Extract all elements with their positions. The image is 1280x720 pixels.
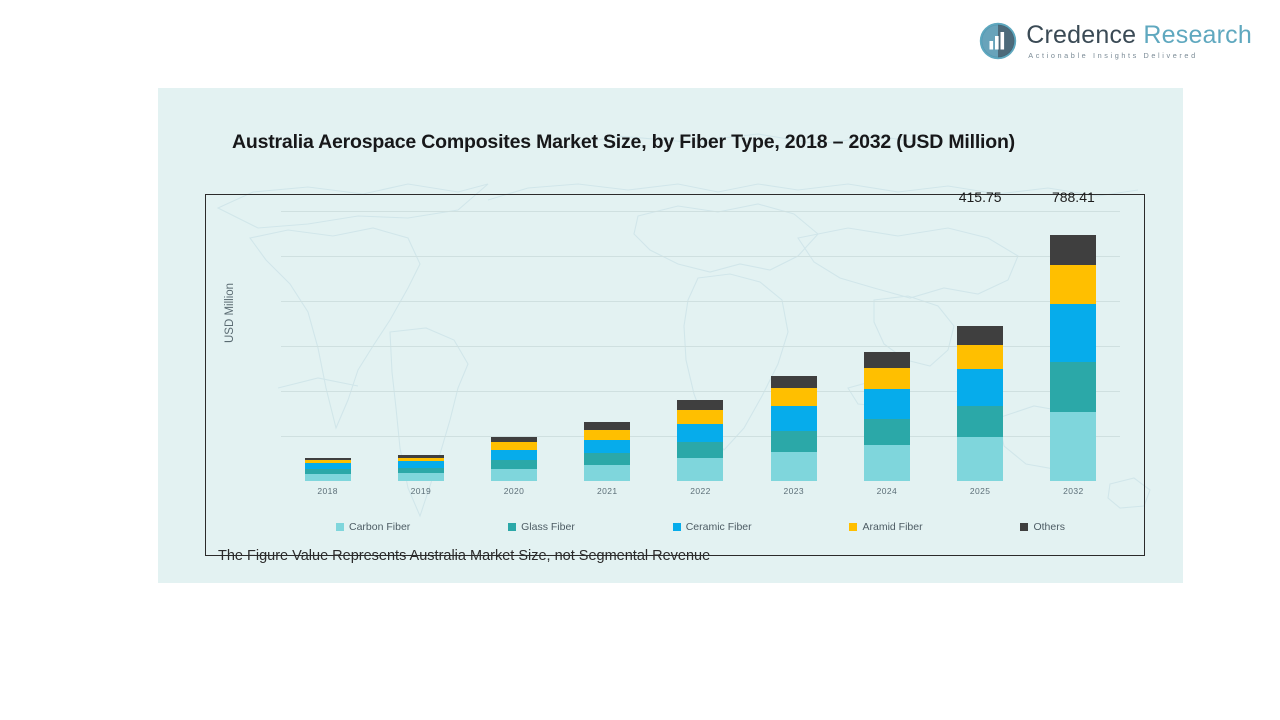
legend-item-carbon-fiber[interactable]: Carbon Fiber [336, 521, 410, 533]
bar-segment-aramid-fiber[interactable] [491, 442, 537, 450]
bar-segment-carbon-fiber[interactable] [398, 473, 444, 481]
bar-segment-others[interactable] [1050, 235, 1096, 266]
stacked-bar[interactable] [864, 352, 910, 481]
bar-segment-carbon-fiber[interactable] [305, 474, 351, 481]
chart-legend: Carbon FiberGlass FiberCeramic FiberAram… [281, 519, 1120, 535]
bar-slot: 788.41 [1031, 211, 1117, 481]
bar-segment-carbon-fiber[interactable] [491, 469, 537, 481]
bar-slot [471, 211, 557, 481]
x-axis-tick-2018: 2018 [285, 486, 371, 496]
legend-item-others[interactable]: Others [1020, 521, 1065, 533]
stacked-bar[interactable] [398, 455, 444, 481]
x-axis-tick-2024: 2024 [844, 486, 930, 496]
x-axis-tick-2025: 2025 [937, 486, 1023, 496]
legend-item-aramid-fiber[interactable]: Aramid Fiber [849, 521, 922, 533]
stacked-bar[interactable] [584, 422, 630, 481]
bar-segment-others[interactable] [957, 326, 1003, 345]
bar-segment-aramid-fiber[interactable] [584, 430, 630, 440]
stacked-bar[interactable] [305, 458, 351, 481]
stacked-bar[interactable] [491, 437, 537, 481]
chart-footnote: The Figure Value Represents Australia Ma… [218, 548, 710, 564]
chart-panel: Australia Aerospace Composites Market Si… [158, 88, 1183, 583]
legend-label: Aramid Fiber [862, 521, 922, 533]
legend-label: Carbon Fiber [349, 521, 410, 533]
bar-segment-glass-fiber[interactable] [491, 460, 537, 469]
bar-segment-carbon-fiber[interactable] [864, 445, 910, 481]
bar-value-label: 788.41 [1052, 189, 1095, 205]
stacked-bar[interactable]: 788.41 [1050, 235, 1096, 481]
brand-logo-text: Credence Research Actionable Insights De… [1026, 23, 1252, 59]
bar-segment-glass-fiber[interactable] [864, 419, 910, 445]
legend-item-ceramic-fiber[interactable]: Ceramic Fiber [673, 521, 752, 533]
bar-segment-glass-fiber[interactable] [677, 442, 723, 458]
stacked-bar[interactable]: 415.75 [957, 326, 1003, 481]
bar-segment-ceramic-fiber[interactable] [677, 424, 723, 443]
legend-swatch-icon [508, 523, 516, 531]
legend-swatch-icon [1020, 523, 1028, 531]
bar-chart-circle-icon [979, 22, 1017, 60]
x-axis-tick-2020: 2020 [471, 486, 557, 496]
bar-segment-aramid-fiber[interactable] [771, 388, 817, 406]
bar-slot [844, 211, 930, 481]
bar-segment-ceramic-fiber[interactable] [584, 440, 630, 453]
bar-segment-aramid-fiber[interactable] [677, 410, 723, 424]
chart-title: Australia Aerospace Composites Market Si… [232, 131, 1132, 154]
bar-segment-others[interactable] [864, 352, 910, 368]
screenshot-root: Credence Research Actionable Insights De… [0, 0, 1280, 720]
bar-segment-aramid-fiber[interactable] [957, 345, 1003, 369]
y-axis-label: USD Million [224, 283, 236, 343]
bar-slot [564, 211, 650, 481]
bar-segment-glass-fiber[interactable] [771, 431, 817, 452]
legend-swatch-icon [849, 523, 857, 531]
x-axis-tick-2032: 2032 [1031, 486, 1117, 496]
bar-segment-others[interactable] [677, 400, 723, 410]
bar-segment-glass-fiber[interactable] [584, 453, 630, 464]
brand-logo[interactable]: Credence Research Actionable Insights De… [979, 22, 1252, 60]
bar-segment-ceramic-fiber[interactable] [491, 450, 537, 460]
legend-item-glass-fiber[interactable]: Glass Fiber [508, 521, 575, 533]
plot-area: USD Million 415.75788.41 201820192020202… [205, 194, 1145, 556]
x-axis-tick-2021: 2021 [564, 486, 650, 496]
bar-slot [751, 211, 837, 481]
bar-segment-carbon-fiber[interactable] [584, 465, 630, 481]
bar-slot [285, 211, 371, 481]
legend-label: Glass Fiber [521, 521, 575, 533]
brand-tagline: Actionable Insights Delivered [1028, 52, 1252, 59]
x-axis-tick-2019: 2019 [378, 486, 464, 496]
bar-segment-ceramic-fiber[interactable] [1050, 304, 1096, 362]
bar-segment-ceramic-fiber[interactable] [771, 406, 817, 431]
bar-segment-glass-fiber[interactable] [957, 406, 1003, 437]
legend-label: Others [1033, 521, 1065, 533]
bar-segment-carbon-fiber[interactable] [677, 458, 723, 481]
bar-group: 415.75788.41 [281, 211, 1120, 481]
stacked-bar[interactable] [771, 376, 817, 481]
bar-segment-carbon-fiber[interactable] [771, 452, 817, 481]
bar-segment-carbon-fiber[interactable] [957, 437, 1003, 481]
bar-value-label: 415.75 [959, 189, 1002, 205]
bar-segment-aramid-fiber[interactable] [864, 368, 910, 388]
bar-segment-aramid-fiber[interactable] [1050, 265, 1096, 303]
brand-name: Credence Research [1026, 23, 1252, 48]
x-axis-tick-2023: 2023 [751, 486, 837, 496]
legend-swatch-icon [336, 523, 344, 531]
bar-slot: 415.75 [937, 211, 1023, 481]
brand-name-part1: Credence [1026, 21, 1136, 49]
bar-segment-others[interactable] [584, 422, 630, 430]
bar-segment-carbon-fiber[interactable] [1050, 412, 1096, 481]
x-axis-ticks: 201820192020202120222023202420252032 [281, 483, 1120, 499]
bar-segment-others[interactable] [771, 376, 817, 389]
legend-swatch-icon [673, 523, 681, 531]
legend-label: Ceramic Fiber [686, 521, 752, 533]
bar-slot [658, 211, 744, 481]
brand-name-part2: Research [1136, 21, 1252, 49]
bar-slot [378, 211, 464, 481]
stacked-bar[interactable] [677, 400, 723, 481]
bar-segment-glass-fiber[interactable] [1050, 362, 1096, 412]
bar-segment-ceramic-fiber[interactable] [864, 389, 910, 419]
x-axis-tick-2022: 2022 [658, 486, 744, 496]
bar-segment-ceramic-fiber[interactable] [957, 369, 1003, 406]
